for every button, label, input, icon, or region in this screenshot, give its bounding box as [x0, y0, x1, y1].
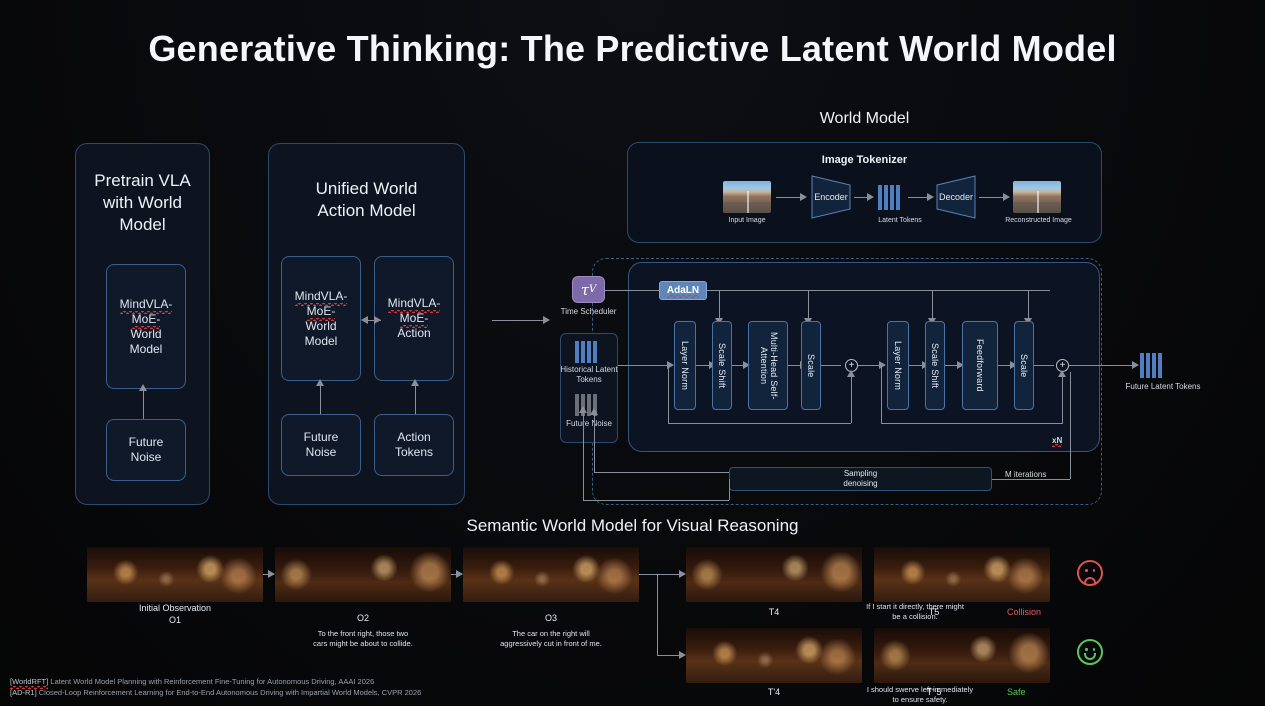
ln2-to-ss2-line [909, 365, 923, 366]
citation-2-text: Closed-Loop Reinforcement Learning for E… [37, 688, 422, 697]
tokenizer-arrow-3-line [908, 197, 928, 198]
dit-future-noise-label: Future Noise [556, 419, 622, 428]
branch-bottom-frame-t5 [874, 628, 1050, 683]
unified-heading-line-1: Unified World [316, 179, 418, 198]
scale-1-label: Scale [806, 354, 816, 378]
heading-line-2: with World [103, 193, 182, 212]
unified-noise-line-2: Noise [306, 445, 337, 460]
citation-2-tag: [AD-R1] [10, 688, 37, 697]
feedback-down-line [1070, 372, 1071, 479]
feedback-left-drop [729, 479, 730, 500]
o3-caption: The car on the right will aggressively c… [463, 629, 639, 649]
pretrain-world-model-box: MindVLA- MoE- World Model [106, 264, 186, 389]
o1-label: Initial Observation O1 [87, 603, 263, 626]
o1-label-line-2: O1 [169, 615, 181, 625]
feedback-to-noise-up [583, 410, 584, 500]
model-name-line-4: Model [130, 342, 163, 357]
residual-1-up [851, 373, 852, 423]
layer-norm-1-label: Layer Norm [680, 341, 690, 390]
branch-bottom-line [657, 655, 681, 656]
repeat-count-value: xN [1052, 436, 1062, 445]
tokenizer-arrow-1-line [776, 197, 801, 198]
residual-2-down [881, 365, 882, 423]
branch-bottom-frame-t4 [686, 628, 862, 683]
sum2-to-output-line [1069, 365, 1133, 366]
encoder-label: Encoder [811, 175, 851, 219]
action-tokens-line-2: Tokens [395, 445, 433, 460]
adaln-box: AdaLN [659, 281, 707, 300]
future-latent-tokens-label: Future Latent Tokens [1113, 382, 1213, 391]
world-model-line-3: World [305, 319, 336, 334]
action-model-line-2: MoE- [400, 311, 429, 326]
pretrain-arrow-head [139, 384, 147, 391]
adaln-drop-scaleshift2 [932, 290, 933, 320]
feedback-across-line [992, 479, 1070, 480]
time-scheduler-label: Time Scheduler [557, 307, 620, 316]
feedforward-block: Feedforward [962, 321, 998, 410]
future-latent-tokens-bars [1140, 353, 1162, 378]
tokens-arrow-head [411, 379, 419, 386]
o1-label-line-1: Initial Observation [139, 603, 211, 613]
o1-to-o2-arrow-head [268, 570, 275, 578]
unified-action-model-box: MindVLA- MoE- Action [374, 256, 454, 381]
sum2-to-output-head [1132, 361, 1139, 369]
layer-norm-2-label: Layer Norm [893, 341, 903, 390]
pretrain-vla-panel: Pretrain VLA with World Model MindVLA- M… [75, 143, 210, 505]
image-tokenizer-panel: Image Tokenizer Input Image Encoder Late… [627, 142, 1102, 243]
unified-future-noise-box: Future Noise [281, 414, 361, 476]
branch-stem-line [639, 574, 657, 575]
o2-caption-line-2: cars might be about to collide. [313, 639, 413, 648]
adaln-drop-scale1 [808, 290, 809, 320]
reconstructed-image-label: Reconstructed Image [996, 217, 1081, 224]
m-iterations-label: M iterations [1005, 470, 1046, 479]
noise-branch-up [594, 412, 595, 472]
transition-arrow-head [543, 316, 550, 324]
multihead-self-attention-block: Multi-Head Self-Attention [748, 321, 788, 410]
tokenizer-arrow-3-head [927, 193, 934, 201]
happy-face-icon [1077, 639, 1103, 665]
pretrain-arrow-line [143, 389, 144, 419]
scale-1-block: Scale [801, 321, 821, 410]
feedback-to-noise-head [579, 406, 587, 413]
footer-citations: [WorldRFT] Latent World Model Planning w… [10, 676, 421, 699]
world-model-line-1: MindVLA- [295, 289, 348, 304]
token-to-block-line [618, 365, 668, 366]
historical-latent-tokens-bars [575, 341, 597, 363]
page-title: Generative Thinking: The Predictive Late… [0, 28, 1265, 70]
residual-1-across [668, 423, 851, 424]
noise-arrow-head [316, 379, 324, 386]
pretrain-vla-heading: Pretrain VLA with World Model [76, 170, 209, 236]
t5-prime-label: T' 5 [874, 687, 994, 697]
adaln-fanout-line [707, 290, 1050, 291]
tokenizer-arrow-4-line [979, 197, 1004, 198]
residual-1-head [847, 370, 855, 377]
feedforward-label: Feedforward [975, 339, 985, 392]
reconstructed-image-thumbnail [1013, 181, 1061, 213]
decoder-label: Decoder [936, 175, 976, 219]
scale-shift-1-label: Scale Shift [717, 343, 727, 388]
input-image-thumbnail [723, 181, 771, 213]
unified-world-model-box: MindVLA- MoE- World Model [281, 256, 361, 381]
adaln-label: AdaLN [667, 285, 699, 296]
model-name-line-2: MoE- [132, 312, 161, 327]
feedback-to-noise-line [583, 500, 729, 501]
slide-root: Generative Thinking: The Predictive Late… [0, 0, 1265, 706]
future-noise-line-1: Future [129, 435, 164, 450]
historical-latent-tokens-label: Historical Latent Tokens [556, 365, 622, 384]
unified-world-action-panel: Unified World Action Model MindVLA- MoE-… [268, 143, 465, 505]
noise-branch-head [590, 408, 598, 415]
safe-status-badge: Safe [1007, 687, 1026, 697]
action-tokens-line-1: Action [397, 430, 430, 445]
branch-top-frame-t5 [874, 547, 1050, 602]
action-model-line-1: MindVLA- [388, 296, 441, 311]
time-scheduler-box: τV [572, 276, 605, 303]
noise-arrow-line [320, 384, 321, 414]
scale1-to-sum1-line [821, 365, 841, 366]
observation-frame-o1 [87, 547, 263, 602]
unified-heading-line-2: Action Model [317, 201, 415, 220]
o3-caption-line-1: The car on the right will [512, 629, 590, 638]
action-model-line-3: Action [397, 326, 430, 341]
model-name-line-3: World [130, 327, 161, 342]
o2-label: O2 [275, 613, 451, 623]
residual-2-head [1058, 370, 1066, 377]
tau-to-adaln-line [605, 290, 661, 291]
world-model-section-title: World Model [627, 110, 1102, 128]
adaln-drop-scaleshift1 [719, 290, 720, 320]
adaln-drop-scale2 [1028, 290, 1029, 320]
o3-caption-line-2: aggressively cut in front of me. [500, 639, 602, 648]
pretrain-future-noise-box: Future Noise [106, 419, 186, 481]
sampling-denoising-box: Sampling denoising [729, 467, 992, 491]
tokenizer-arrow-2-head [867, 193, 874, 201]
unified-noise-line-1: Future [304, 430, 339, 445]
o3-label: O3 [463, 613, 639, 623]
tokenizer-arrow-2-line [854, 197, 868, 198]
sampling-line-2: denoising [843, 479, 877, 489]
scale-shift-1-block: Scale Shift [712, 321, 732, 410]
t5-label: T5 [874, 607, 994, 617]
o2-caption-line-1: To the front right, those two [318, 629, 408, 638]
collision-status-badge: Collision [1007, 607, 1041, 617]
branch-top-head [679, 570, 686, 578]
citation-line-2: [AD-R1] Closed-Loop Reinforcement Learni… [10, 687, 421, 698]
latent-tokens-label: Latent Tokens [850, 217, 950, 224]
tokenizer-arrow-1-head [800, 193, 807, 201]
observation-frame-o2 [275, 547, 451, 602]
o2-caption: To the front right, those two cars might… [275, 629, 451, 649]
residual-2-across [881, 423, 1063, 424]
multihead-attention-label: Multi-Head Self-Attention [758, 322, 778, 409]
heading-line-3: Model [119, 215, 165, 234]
residual-1-down [668, 365, 669, 423]
scale-shift-2-block: Scale Shift [925, 321, 945, 410]
sum1-to-ln2-line [858, 365, 880, 366]
historical-tokens-line-2: Tokens [576, 375, 601, 384]
tau-symbol: τ [581, 281, 589, 299]
transition-arrow-line [492, 320, 544, 321]
o2-to-o3-arrow-head [456, 570, 463, 578]
model-name-line-1: MindVLA- [120, 297, 173, 312]
citation-1-text: Latent World Model Planning with Reinfor… [48, 677, 374, 686]
image-tokenizer-title: Image Tokenizer [628, 154, 1101, 166]
residual-2-up [1062, 373, 1063, 423]
observation-frame-o3 [463, 547, 639, 602]
tau-subscript: V [589, 284, 596, 295]
branch-vertical-line [657, 574, 658, 655]
latent-tokens-bars [878, 185, 900, 210]
scale-shift-2-label: Scale Shift [930, 343, 940, 388]
branch-top-line [657, 574, 681, 575]
sad-face-icon [1077, 560, 1103, 586]
branch-bottom-head [679, 651, 686, 659]
branch-top-frame-t4 [686, 547, 862, 602]
repeat-count-label: xN [1052, 436, 1062, 445]
tokens-arrow-line [415, 384, 416, 414]
scale-2-label: Scale [1019, 354, 1029, 378]
bidirectional-arrow-right [374, 316, 381, 324]
scale-2-block: Scale [1014, 321, 1034, 410]
sampling-line-1: Sampling [844, 469, 877, 479]
layer-norm-1-block: Layer Norm [674, 321, 696, 410]
citation-line-1: [WorldRFT] Latent World Model Planning w… [10, 676, 421, 687]
unified-action-tokens-box: Action Tokens [374, 414, 454, 476]
future-noise-line-2: Noise [131, 450, 162, 465]
ln1-to-ss1-line [696, 365, 710, 366]
scale2-to-sum2-line [1034, 365, 1054, 366]
citation-1-tag: [WorldRFT] [10, 676, 48, 687]
semantic-section-title: Semantic World Model for Visual Reasonin… [0, 516, 1265, 536]
input-image-label: Input Image [708, 217, 786, 224]
heading-line-1: Pretrain VLA [94, 171, 190, 190]
bidirectional-arrow-left [361, 316, 368, 324]
world-model-line-2: MoE- [307, 304, 336, 319]
tokenizer-arrow-4-head [1003, 193, 1010, 201]
noise-branch-line [594, 472, 729, 473]
historical-tokens-line-1: Historical Latent [560, 365, 617, 374]
layer-norm-2-block: Layer Norm [887, 321, 909, 410]
world-model-line-4: Model [305, 334, 338, 349]
unified-model-heading: Unified World Action Model [269, 178, 464, 222]
